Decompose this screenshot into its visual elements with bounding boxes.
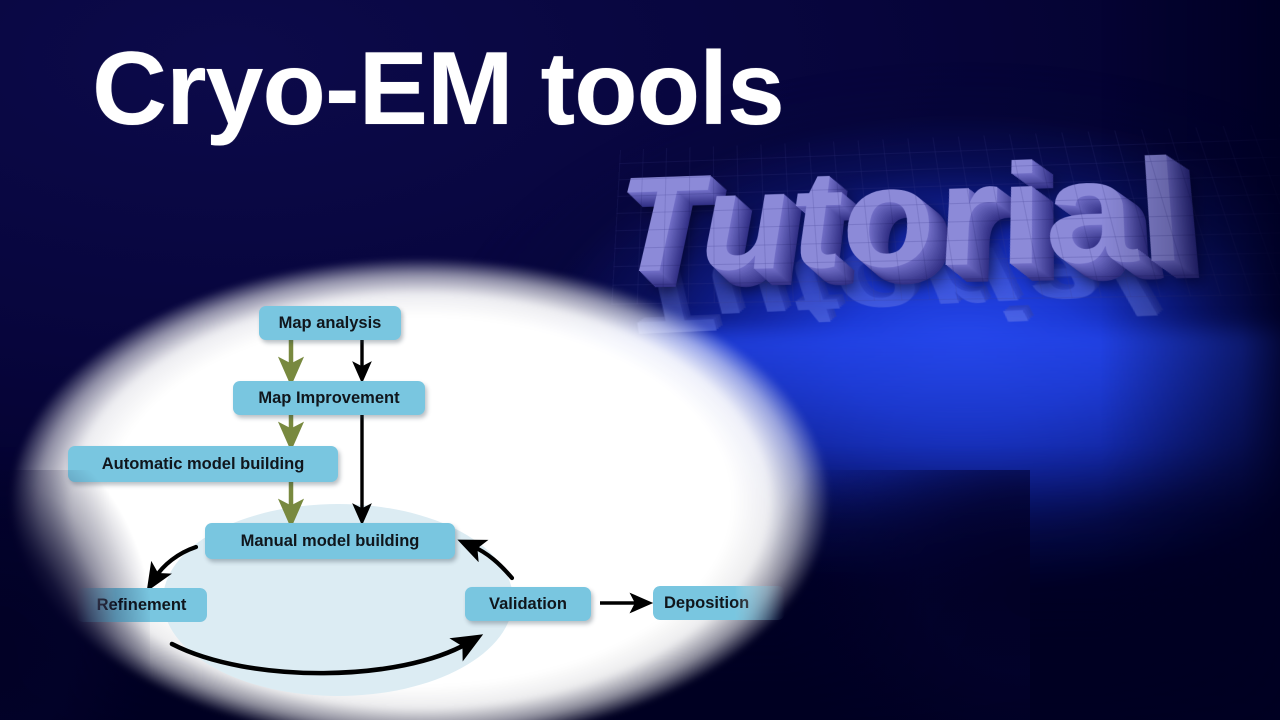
spotlight-edge-shade-right: [700, 470, 1030, 720]
slide-canvas: Tutorial Tutorial Cryo-EM tools: [0, 0, 1280, 720]
spotlight-edge-shade-left: [0, 470, 150, 720]
node-validation[interactable]: Validation: [465, 587, 591, 621]
node-map-improvement[interactable]: Map Improvement: [233, 381, 425, 415]
node-manual-model-building[interactable]: Manual model building: [205, 523, 455, 559]
node-map-analysis[interactable]: Map analysis: [259, 306, 401, 340]
workflow-diagram: Map analysis Map Improvement Automatic m…: [0, 0, 1280, 720]
